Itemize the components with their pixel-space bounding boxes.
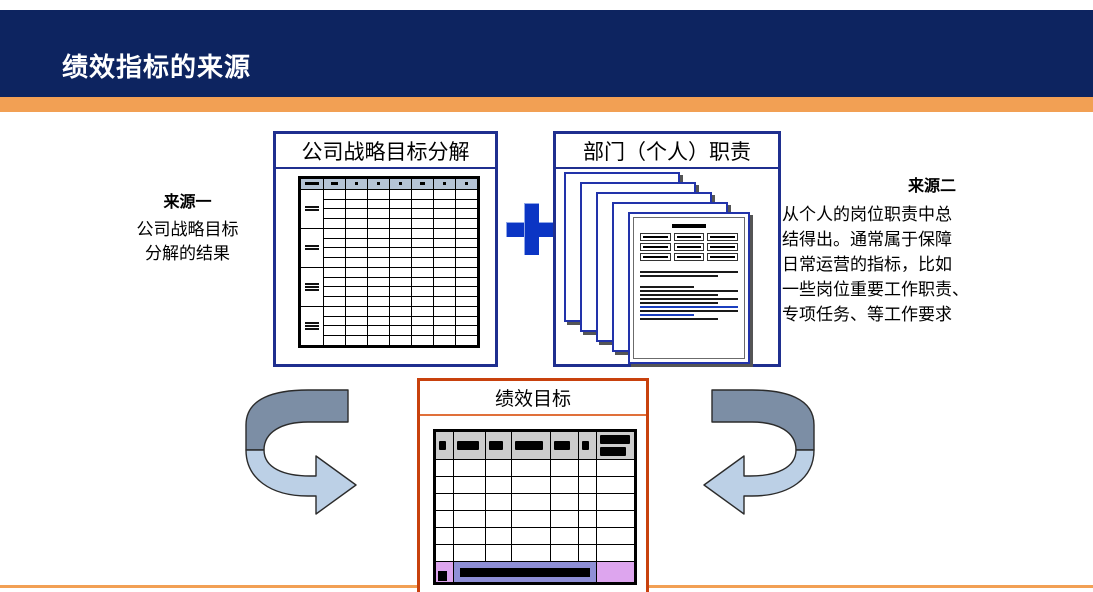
goal-table-cell xyxy=(511,528,550,545)
strategy-table-cell xyxy=(390,297,412,307)
strategy-row-label-cell xyxy=(301,228,324,267)
goal-table-cell xyxy=(511,511,550,528)
strategy-table-cell xyxy=(368,209,390,219)
strategy-table-cell xyxy=(456,209,478,219)
strategy-table-row xyxy=(301,306,478,316)
duty-text-line xyxy=(640,302,718,304)
duty-text-line-highlight xyxy=(640,306,738,308)
goal-header-cell xyxy=(579,432,597,460)
strategy-table-cell xyxy=(390,336,412,346)
strategy-table-cell xyxy=(434,209,456,219)
strategy-table-cell xyxy=(412,336,434,346)
strategy-table-cell xyxy=(390,228,412,238)
duty-form-cell xyxy=(640,243,671,251)
duty-text-line xyxy=(640,294,718,296)
strategy-table-cell xyxy=(324,267,346,277)
strategy-table-cell xyxy=(324,189,346,199)
goal-table-cell xyxy=(436,511,454,528)
goal-table-row xyxy=(436,477,635,494)
duty-sheet-page xyxy=(633,217,745,359)
strategy-table-cell xyxy=(368,267,390,277)
goal-table-cell xyxy=(597,511,635,528)
strategy-table-row xyxy=(301,189,478,199)
duty-form-cell xyxy=(674,253,705,261)
strategy-table-cell xyxy=(412,277,434,287)
strategy-table-cell xyxy=(346,336,368,346)
strategy-table-cell xyxy=(434,189,456,199)
strategy-table-cell xyxy=(368,316,390,326)
goal-table-cell xyxy=(436,494,454,511)
duty-text-line xyxy=(640,286,694,288)
goal-table-cell xyxy=(485,494,511,511)
strategy-table-cell xyxy=(456,248,478,258)
strategy-table-cell xyxy=(412,248,434,258)
goal-table-cell xyxy=(597,494,635,511)
strategy-table-thumbnail xyxy=(298,176,480,348)
source-one-line-2: 分解的结果 xyxy=(95,242,280,266)
strategy-table-cell xyxy=(434,219,456,229)
duty-form-row xyxy=(640,253,738,261)
goal-table-cell xyxy=(597,477,635,494)
strategy-table-cell xyxy=(324,336,346,346)
goal-box-header: 绩效目标 xyxy=(420,381,646,416)
strategy-table-cell xyxy=(390,316,412,326)
goal-table-cell xyxy=(454,528,486,545)
goal-header-cell xyxy=(454,432,486,460)
strategy-table-cell xyxy=(346,199,368,209)
goal-table-cell xyxy=(579,477,597,494)
goal-table-cell xyxy=(597,460,635,477)
strategy-table-cell xyxy=(456,306,478,316)
duty-form-cell xyxy=(674,243,705,251)
strategy-table-row xyxy=(301,209,478,219)
strategy-table-row xyxy=(301,258,478,268)
strategy-table-row xyxy=(301,287,478,297)
strategy-table-cell xyxy=(390,248,412,258)
goal-table-cell xyxy=(454,511,486,528)
goal-table-row xyxy=(436,545,635,562)
strategy-table-cell xyxy=(324,209,346,219)
strategy-table-cell xyxy=(390,189,412,199)
strategy-table-cell xyxy=(346,267,368,277)
goal-table-cell xyxy=(485,460,511,477)
duty-doc-title-block xyxy=(672,224,705,228)
strategy-table-cell xyxy=(434,277,456,287)
strategy-header-cell xyxy=(301,179,324,190)
slide-canvas: 绩效指标的来源 来源一 公司战略目标 分解的结果 来源二 从个人的岗位职责中总 … xyxy=(0,0,1093,592)
strategy-table-cell xyxy=(368,306,390,316)
arrow-right-lower-ribbon xyxy=(704,450,814,514)
strategy-header-cell xyxy=(434,179,456,190)
strategy-table-cell xyxy=(390,199,412,209)
goal-table-thumbnail xyxy=(433,429,637,585)
goal-table-cell xyxy=(551,494,579,511)
goal-table-cell xyxy=(485,477,511,494)
source-two-line-4: 一些岗位重要工作职责、 xyxy=(782,277,1082,302)
goal-footer-cell xyxy=(454,562,597,583)
strategy-table-cell xyxy=(412,326,434,336)
strategy-table-cell xyxy=(456,219,478,229)
goal-header-cell xyxy=(436,432,454,460)
strategy-table-cell xyxy=(368,258,390,268)
duty-text-line xyxy=(640,275,718,277)
strategy-table-row xyxy=(301,248,478,258)
goal-header-cell xyxy=(511,432,550,460)
strategy-table-cell xyxy=(434,287,456,297)
strategy-table-cell xyxy=(346,297,368,307)
strategy-table-cell xyxy=(456,336,478,346)
goal-header-row xyxy=(436,432,635,460)
strategy-table-cell xyxy=(412,316,434,326)
strategy-table-cell xyxy=(434,316,456,326)
strategy-table-row xyxy=(301,199,478,209)
strategy-table-cell xyxy=(346,189,368,199)
strategy-table-cell xyxy=(412,209,434,219)
goal-header-cell xyxy=(485,432,511,460)
strategy-table-cell xyxy=(368,228,390,238)
source-two-line-1: 从个人的岗位职责中总 xyxy=(782,202,1082,227)
duty-form-row xyxy=(640,243,738,251)
cycle-arrow-left-icon xyxy=(230,378,390,538)
duty-text-line xyxy=(640,298,738,300)
goal-header-cell xyxy=(551,432,579,460)
goal-table-cell xyxy=(551,477,579,494)
duty-form-cell xyxy=(640,253,671,261)
strategy-table-cell xyxy=(368,336,390,346)
source-two-title: 来源二 xyxy=(782,172,1082,196)
duty-form-cell xyxy=(707,243,738,251)
cycle-arrow-right-icon xyxy=(665,378,830,538)
strategy-row-label-cell xyxy=(301,306,324,345)
department-duty-box: 部门（个人）职责 xyxy=(553,131,781,367)
goal-table-cell xyxy=(454,460,486,477)
strategy-table-cell xyxy=(368,189,390,199)
goal-table-cell xyxy=(579,545,597,562)
strategy-table-cell xyxy=(324,238,346,248)
strategy-header-cell xyxy=(456,179,478,190)
duty-text-line xyxy=(640,290,738,292)
goal-table-cell xyxy=(511,460,550,477)
strategy-table-cell xyxy=(368,199,390,209)
strategy-table-cell xyxy=(434,297,456,307)
goal-table-cell xyxy=(511,494,550,511)
strategy-table-cell xyxy=(412,297,434,307)
strategy-table-cell xyxy=(434,199,456,209)
strategy-table-cell xyxy=(346,326,368,336)
strategy-table-cell xyxy=(346,209,368,219)
goal-table-cell xyxy=(579,528,597,545)
strategy-table-cell xyxy=(390,209,412,219)
strategy-table-cell xyxy=(456,228,478,238)
strategy-table-cell xyxy=(412,306,434,316)
goal-table-cell xyxy=(551,511,579,528)
duty-text-line xyxy=(640,310,738,312)
goal-table-row xyxy=(436,528,635,545)
duty-text-line xyxy=(640,271,738,273)
strategy-table-row xyxy=(301,326,478,336)
goal-table-cell xyxy=(597,545,635,562)
goal-table-cell xyxy=(436,545,454,562)
strategy-table-cell xyxy=(346,219,368,229)
goal-table-row xyxy=(436,494,635,511)
strategy-table-cell xyxy=(434,326,456,336)
strategy-box-header: 公司战略目标分解 xyxy=(276,134,495,169)
header-accent-bar xyxy=(0,97,1093,112)
strategy-table-cell xyxy=(456,199,478,209)
strategy-table-cell xyxy=(324,199,346,209)
goal-table-cell xyxy=(511,477,550,494)
goal-table-cell xyxy=(454,545,486,562)
strategy-table-cell xyxy=(412,189,434,199)
strategy-table-cell xyxy=(456,316,478,326)
duty-text-line xyxy=(640,318,718,320)
strategy-table-cell xyxy=(434,306,456,316)
strategy-table-cell xyxy=(456,258,478,268)
duty-form-cell xyxy=(640,233,671,241)
strategy-table-cell xyxy=(412,238,434,248)
goal-table-cell xyxy=(597,528,635,545)
strategy-table-cell xyxy=(434,336,456,346)
duty-form-row xyxy=(640,233,738,241)
strategy-table-cell xyxy=(390,267,412,277)
strategy-table-cell xyxy=(346,277,368,287)
duty-box-header: 部门（个人）职责 xyxy=(556,134,778,169)
goal-footer-cell xyxy=(597,562,635,583)
strategy-table-cell xyxy=(412,267,434,277)
strategy-table-cell xyxy=(346,238,368,248)
duty-form-cell xyxy=(707,253,738,261)
strategy-table-row xyxy=(301,277,478,287)
plus-icon xyxy=(506,203,556,255)
strategy-table-cell xyxy=(324,316,346,326)
strategy-table-cell xyxy=(456,297,478,307)
strategy-table-cell xyxy=(412,219,434,229)
strategy-table-cell xyxy=(434,228,456,238)
strategy-table-cell xyxy=(390,287,412,297)
goal-table-row xyxy=(436,511,635,528)
goal-table-cell xyxy=(436,528,454,545)
strategy-table-row xyxy=(301,297,478,307)
strategy-table-cell xyxy=(346,287,368,297)
strategy-table-row xyxy=(301,267,478,277)
strategy-table-row xyxy=(301,336,478,346)
source-two-line-2: 结得出。通常属于保障 xyxy=(782,227,1082,252)
strategy-table-cell xyxy=(412,287,434,297)
source-two-caption: 来源二 从个人的岗位职责中总 结得出。通常属于保障 日常运营的指标，比如 一些岗… xyxy=(782,172,1082,327)
strategy-table-cell xyxy=(368,248,390,258)
strategy-header-cell xyxy=(368,179,390,190)
strategy-table-cell xyxy=(324,258,346,268)
strategy-table-cell xyxy=(434,248,456,258)
strategy-table-cell xyxy=(368,326,390,336)
strategy-table-cell xyxy=(324,228,346,238)
strategy-table-cell xyxy=(368,219,390,229)
strategy-table-cell xyxy=(368,297,390,307)
goal-table-cell xyxy=(551,528,579,545)
strategy-table-cell xyxy=(412,258,434,268)
strategy-table-cell xyxy=(324,219,346,229)
strategy-table-cell xyxy=(390,306,412,316)
strategy-table-cell xyxy=(390,238,412,248)
strategy-table-cell xyxy=(346,316,368,326)
duty-document-stack xyxy=(564,172,769,362)
strategy-table-cell xyxy=(324,326,346,336)
strategy-table-cell xyxy=(434,267,456,277)
strategy-table-cell xyxy=(412,228,434,238)
strategy-header-cell xyxy=(346,179,368,190)
strategy-row-label-cell xyxy=(301,267,324,306)
strategy-table-cell xyxy=(434,238,456,248)
goal-table-cell xyxy=(579,511,597,528)
strategy-header-cell xyxy=(390,179,412,190)
strategy-table-row xyxy=(301,219,478,229)
arrow-right-upper-ribbon xyxy=(712,390,814,450)
strategy-table-cell xyxy=(456,326,478,336)
strategy-table-cell xyxy=(368,287,390,297)
strategy-table-cell xyxy=(346,248,368,258)
arrow-left-upper-ribbon xyxy=(246,390,348,450)
goal-table-cell xyxy=(551,460,579,477)
strategy-header-cell xyxy=(412,179,434,190)
source-one-line-1: 公司战略目标 xyxy=(95,218,280,242)
strategy-table-cell xyxy=(324,248,346,258)
goal-table-cell xyxy=(485,511,511,528)
strategy-table-cell xyxy=(390,219,412,229)
goal-footer-row xyxy=(436,562,635,583)
strategy-table-row xyxy=(301,316,478,326)
strategy-table-cell xyxy=(412,199,434,209)
strategy-table-cell xyxy=(324,287,346,297)
duty-form-cell xyxy=(707,233,738,241)
goal-table-row xyxy=(436,460,635,477)
goal-header-cell xyxy=(597,432,635,460)
source-two-line-3: 日常运营的指标，比如 xyxy=(782,252,1082,277)
duty-text-line-highlight xyxy=(640,314,694,316)
strategy-table-cell xyxy=(456,189,478,199)
goal-table-cell xyxy=(485,545,511,562)
source-one-title: 来源一 xyxy=(95,188,280,212)
strategy-header-row xyxy=(301,179,478,190)
strategy-table-cell xyxy=(390,277,412,287)
goal-table-cell xyxy=(454,494,486,511)
goal-table-cell xyxy=(551,545,579,562)
goal-table-cell xyxy=(454,477,486,494)
strategy-header-cell xyxy=(324,179,346,190)
strategy-table-cell xyxy=(368,238,390,248)
strategy-table-cell xyxy=(346,228,368,238)
strategy-table-cell xyxy=(324,306,346,316)
strategy-decomposition-box: 公司战略目标分解 xyxy=(273,131,498,367)
goal-table-cell xyxy=(511,545,550,562)
strategy-table-cell xyxy=(456,238,478,248)
strategy-table-cell xyxy=(346,306,368,316)
strategy-table-cell xyxy=(324,277,346,287)
duty-form-cell xyxy=(674,233,705,241)
strategy-table-row xyxy=(301,238,478,248)
duty-sheet-front xyxy=(628,212,750,364)
strategy-table-cell xyxy=(346,258,368,268)
strategy-table-cell xyxy=(434,258,456,268)
strategy-table-cell xyxy=(456,287,478,297)
plus-vertical-bar xyxy=(524,203,539,255)
performance-goal-box: 绩效目标 xyxy=(417,378,649,592)
goal-table-cell xyxy=(436,460,454,477)
strategy-table-cell xyxy=(390,258,412,268)
goal-table-cell xyxy=(579,494,597,511)
strategy-table-cell xyxy=(390,326,412,336)
page-title: 绩效指标的来源 xyxy=(62,47,251,84)
goal-footer-cell xyxy=(436,562,454,583)
strategy-table-cell xyxy=(456,267,478,277)
goal-table xyxy=(435,431,635,583)
source-two-line-5: 专项任务、等工作要求 xyxy=(782,302,1082,327)
strategy-table-cell xyxy=(456,277,478,287)
strategy-table-cell xyxy=(324,297,346,307)
goal-table-cell xyxy=(579,460,597,477)
strategy-table-row xyxy=(301,228,478,238)
strategy-table xyxy=(300,178,478,346)
goal-table-cell xyxy=(436,477,454,494)
strategy-row-label-cell xyxy=(301,189,324,228)
arrow-left-lower-ribbon xyxy=(246,450,356,514)
goal-table-cell xyxy=(485,528,511,545)
source-one-caption: 来源一 公司战略目标 分解的结果 xyxy=(95,188,280,266)
strategy-table-cell xyxy=(368,277,390,287)
